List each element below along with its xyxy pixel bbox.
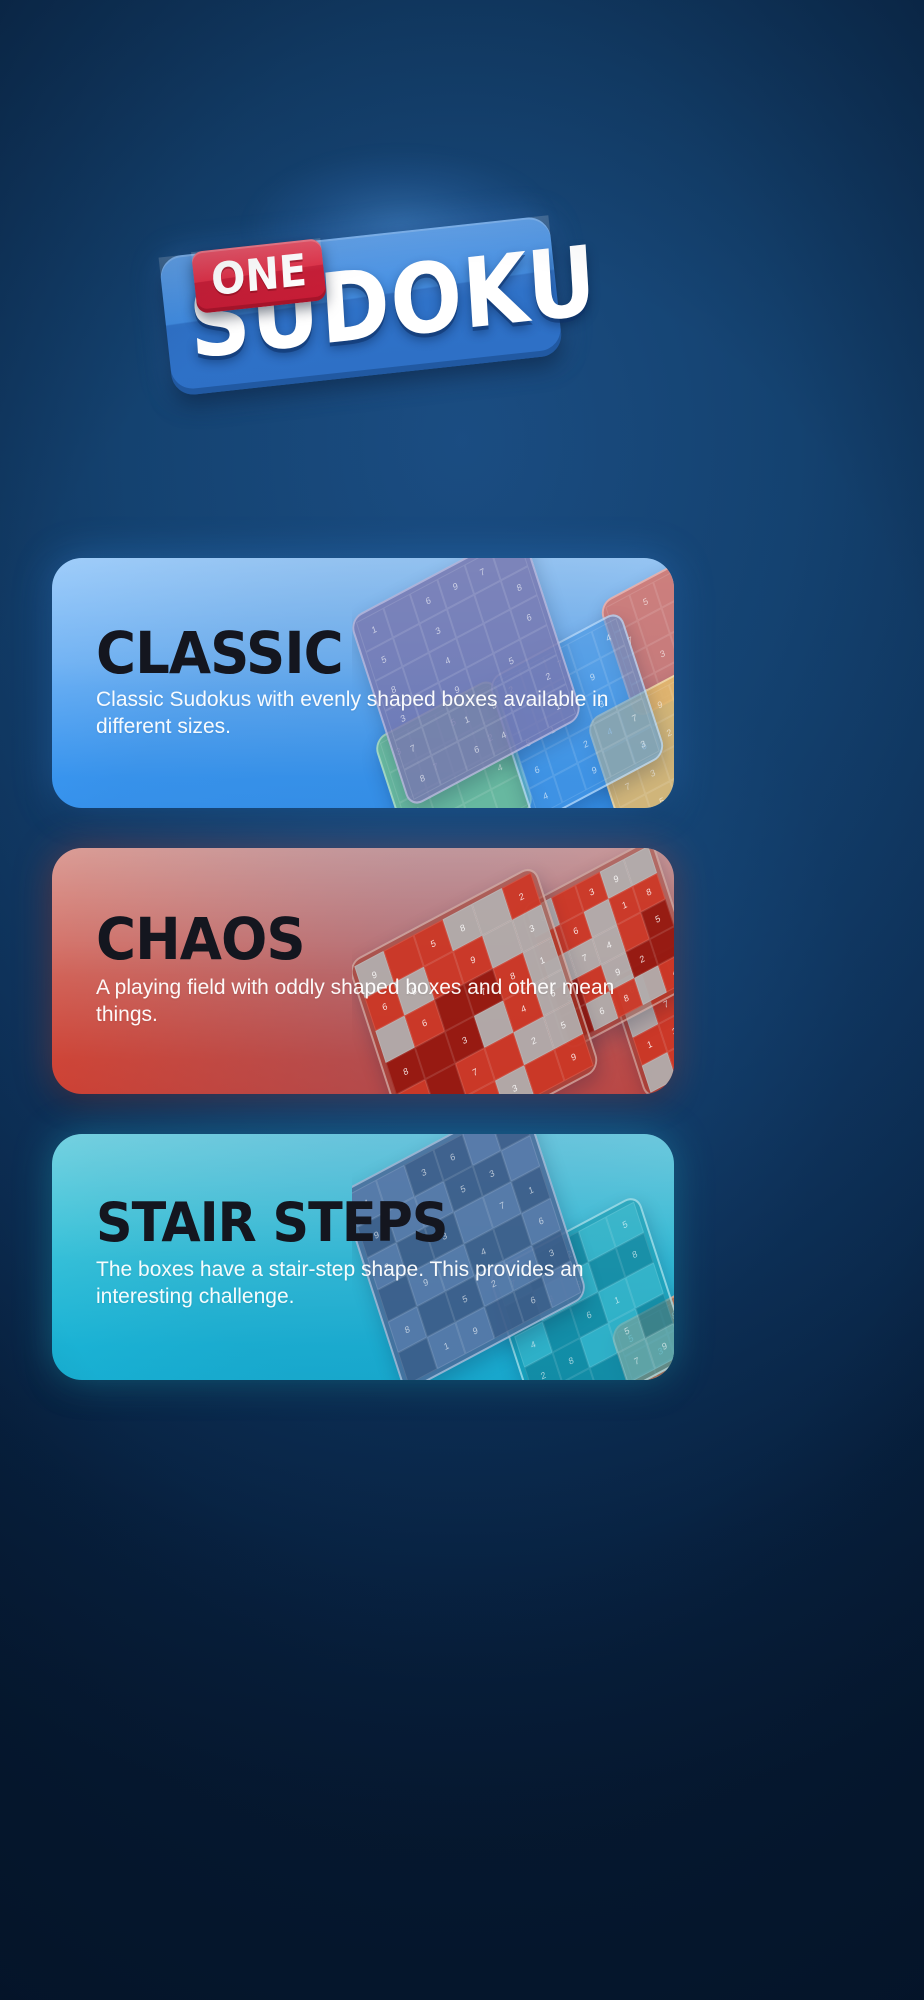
board-cell: 5 (616, 1321, 645, 1356)
board-cell (415, 1032, 455, 1080)
board-cell: 4 (592, 618, 625, 658)
app-logo: SUDOKU ONE (0, 112, 924, 342)
board-cell: 3 (627, 725, 660, 765)
classic-art: 52743861 496273158 35726491 274598136274… (352, 558, 674, 808)
board-cell: 1 (608, 886, 641, 926)
board-cell (431, 742, 468, 786)
board-cell: 1 (356, 608, 393, 652)
board-cell: 3 (646, 1333, 674, 1368)
card-title-chaos: CHAOS (96, 910, 305, 968)
board-cell: 5 (608, 1308, 646, 1353)
board-cell: 5 (443, 1166, 482, 1213)
board-cell: 3 (420, 609, 457, 653)
board-cell (670, 767, 674, 808)
board-cell (624, 848, 657, 886)
board-cell (601, 645, 634, 685)
board-cell: 2 (535, 924, 568, 964)
board-cell (636, 1293, 674, 1338)
board-cell: 2 (524, 1353, 562, 1380)
board-cell: 1 (511, 1166, 550, 1213)
board-cell: 8 (388, 1306, 427, 1353)
board-cell: 6 (520, 750, 553, 790)
board-cell: 6 (511, 595, 548, 639)
card-title-stair-steps: STAIR STEPS (96, 1196, 447, 1250)
board-chaos-small: 6297413856 (608, 921, 674, 1094)
board-cell (456, 624, 493, 668)
board-cell: 7 (618, 698, 651, 738)
board-cell: 5 (629, 582, 661, 621)
app-screen: SUDOKU ONE 52743861 496273158 35726491 2… (0, 0, 924, 2000)
board-cell: 6 (631, 673, 663, 712)
board-cell: 4 (529, 776, 562, 808)
board-cell (580, 1323, 618, 1368)
board-cell: 8 (386, 1047, 426, 1094)
board-cell (484, 1033, 524, 1081)
mode-card-classic[interactable]: 52743861 496273158 35726491 274598136274… (52, 558, 674, 808)
board-cell: 1 (464, 789, 501, 808)
board-cell: 8 (660, 1298, 674, 1333)
board-cell: 5 (606, 1202, 644, 1247)
board-cell: 9 (646, 1324, 674, 1369)
board-cell: 8 (552, 1338, 590, 1380)
board-cell (640, 956, 674, 997)
board-cell (454, 759, 491, 803)
board-cell (620, 794, 654, 808)
board-cell: 7 (455, 1048, 495, 1094)
board-cell (454, 1197, 493, 1244)
board-cell (638, 608, 670, 647)
board-cell (670, 621, 674, 660)
board-cell: 7 (464, 558, 501, 594)
board-cell: 4 (662, 595, 674, 634)
board-cell (617, 912, 650, 952)
board-cell (650, 926, 674, 966)
board-stair-orange: 58362974 (609, 1278, 674, 1380)
board-cell (634, 966, 667, 1006)
board-cell (638, 1310, 667, 1345)
board-cell: 3 (495, 1065, 535, 1094)
board-cell: 7 (611, 766, 645, 807)
board-cell: 8 (501, 566, 538, 610)
board-cell (618, 698, 652, 739)
board-cell: 7 (543, 644, 576, 684)
board-cell: 8 (616, 1232, 654, 1277)
board-cell (624, 1345, 653, 1380)
board-cell: 2 (632, 1369, 661, 1380)
board-cell: 1 (633, 1024, 667, 1065)
board-cell: 4 (514, 1322, 552, 1367)
board-cell (624, 997, 658, 1038)
board-cell: 6 (433, 1134, 472, 1181)
board-cell: 8 (443, 904, 483, 952)
board-cell: 6 (627, 725, 661, 766)
board-cell (493, 1213, 532, 1260)
board-cell (426, 1064, 466, 1094)
board-cell: 9 (437, 565, 474, 609)
board-cell: 7 (614, 621, 646, 660)
chaos-art: 6297413856 5392618745392684 958265936781… (352, 848, 674, 1094)
board-cell (605, 595, 637, 634)
board-cell: 1 (396, 1079, 436, 1094)
board-cell: 4 (592, 925, 625, 965)
board-cell (542, 1307, 580, 1352)
board-cell (668, 671, 674, 712)
board-cell: 9 (554, 1033, 594, 1081)
board-cell (661, 740, 674, 781)
board-cell: 4 (429, 638, 466, 682)
board-cell: 3 (658, 1011, 674, 1052)
board-cell: 1 (427, 1322, 466, 1369)
card-desc-classic: Classic Sudokus with evenly shaped boxes… (96, 686, 616, 740)
board-cell (447, 594, 484, 638)
board-cell (578, 1216, 616, 1261)
board-cell: 9 (578, 750, 611, 790)
card-desc-chaos: A playing field with oddly shaped boxes … (96, 974, 616, 1028)
board-cell: 3 (646, 634, 674, 673)
board-cell (501, 1135, 540, 1182)
board-cell: 8 (633, 873, 666, 913)
board-cell (553, 763, 586, 803)
board-cell (524, 1049, 564, 1094)
board-cell: 5 (641, 899, 674, 939)
board-cell: 6 (410, 579, 447, 623)
board-cell (653, 1357, 674, 1380)
board-cell: 7 (417, 744, 454, 788)
board-cell: 3 (562, 1368, 600, 1380)
board-cell: 7 (649, 983, 674, 1024)
board-cell (393, 623, 430, 667)
logo-one-text: ONE (198, 240, 321, 313)
board-cell: 9 (643, 685, 674, 726)
board-cell: 2 (501, 872, 541, 920)
board-cell: 5 (645, 781, 674, 808)
board-cell: 6 (559, 911, 592, 951)
board-cell (622, 647, 654, 686)
board-cell: 5 (667, 1039, 674, 1080)
card-title-classic: CLASSIC (96, 624, 343, 682)
board-cell (483, 920, 523, 968)
board-cell (472, 888, 512, 936)
board-cell (602, 738, 635, 778)
board-cell: 2 (626, 939, 659, 979)
board-cell: 3 (472, 1150, 511, 1197)
board-cell (568, 631, 601, 671)
board-cell: 7 (618, 1339, 656, 1380)
board-cell: 3 (512, 905, 552, 953)
board-cell (491, 558, 528, 580)
board-cell (584, 899, 617, 939)
board-cell: 6 (615, 969, 649, 1010)
board-cell: 9 (436, 804, 473, 808)
board-cell: 3 (404, 1149, 443, 1196)
board-cell (383, 594, 420, 638)
board-cell (491, 775, 528, 808)
board-violet: 169753884639571528641 (352, 558, 583, 808)
board-cell: 4 (659, 953, 674, 993)
board-cell: 6 (399, 789, 436, 808)
board-cell: 9 (456, 1307, 495, 1354)
board-cell (653, 569, 674, 608)
board-cell: 8 (404, 756, 441, 800)
board-cell: 5 (526, 898, 559, 938)
board-cell: 5 (493, 639, 530, 683)
board-cell (520, 625, 557, 669)
board-cell: 7 (568, 938, 601, 978)
board-cell (626, 1263, 664, 1308)
board-cell: 3 (575, 872, 608, 912)
board-cell (551, 885, 584, 925)
board-cell (474, 580, 511, 624)
board-cell (602, 739, 636, 780)
board-cell: 5 (413, 919, 453, 967)
board-cell: 5 (366, 638, 403, 682)
board-cell (642, 1052, 674, 1093)
board-cell (590, 1353, 628, 1380)
board-cell: 7 (483, 1182, 522, 1229)
board-cell (545, 737, 578, 777)
board-cell: 3 (636, 753, 670, 794)
card-desc-stair-steps: The boxes have a stair-step shape. This … (96, 1256, 616, 1310)
board-cell: 6 (522, 1198, 561, 1245)
board-cell: 2 (652, 712, 674, 753)
mode-card-chaos[interactable]: 6297413856 5392618745392684 958265936781… (52, 848, 674, 1094)
board-cell: 9 (491, 1134, 530, 1150)
board-cell (667, 1322, 674, 1357)
board-cell: 2 (665, 943, 674, 984)
board-cell (398, 1338, 437, 1380)
mode-card-stair-steps[interactable]: 58362974 725398461285379 436998532371946… (52, 1134, 674, 1380)
board-cell (390, 759, 427, 803)
board-cell (427, 774, 464, 808)
board-cell (465, 1080, 505, 1094)
board-cell: 4 (481, 745, 518, 789)
board-cell (483, 610, 520, 654)
board-cell (462, 1134, 501, 1166)
board-cell: 9 (600, 859, 633, 899)
board-cell (655, 660, 674, 699)
